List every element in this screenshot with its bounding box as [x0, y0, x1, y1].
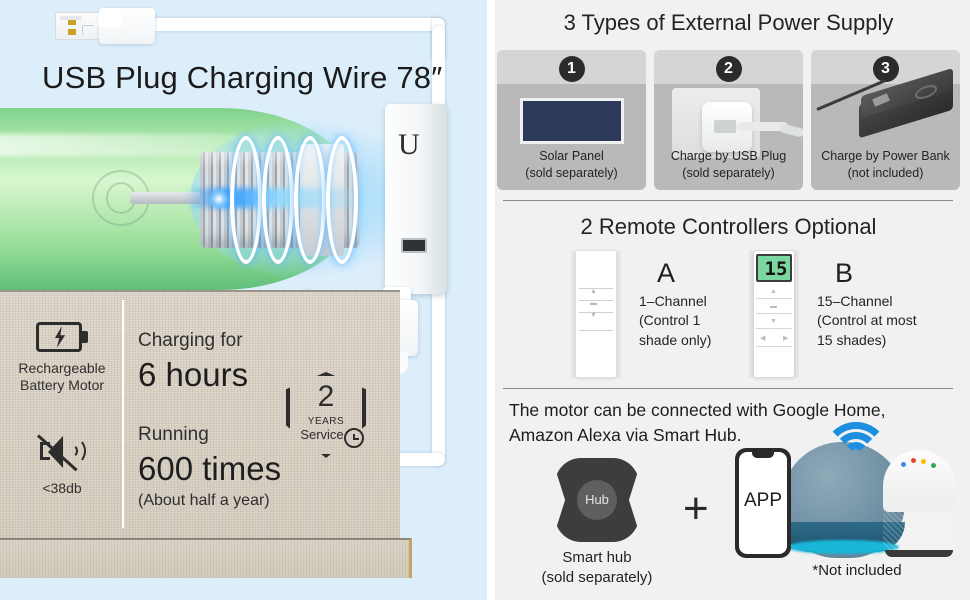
- google-home-led: [901, 462, 906, 467]
- remote-stop-glyph: ▬: [770, 303, 777, 310]
- remote-a-desc-line1: 1–Channel: [639, 293, 707, 309]
- smart-hub-badge: Hub: [577, 480, 617, 520]
- google-home-base: [883, 505, 955, 555]
- shade-bottom-hem: [0, 538, 412, 578]
- charging-label: Charging for: [138, 330, 243, 352]
- card-number-badge: 1: [559, 56, 585, 82]
- phone-app-label: APP: [739, 490, 787, 512]
- card-number-badge: 3: [873, 56, 899, 82]
- smart-hub-caption: Smart hub (sold separately): [517, 548, 677, 589]
- electric-spark-dot: [208, 188, 230, 210]
- not-included-footnote: *Not included: [757, 562, 957, 579]
- clock-icon: [344, 428, 364, 448]
- running-note: (About half a year): [138, 492, 270, 510]
- clock-hand-minute: [353, 438, 359, 440]
- left-panel: USB Plug Charging Wire 78″ U: [0, 0, 487, 600]
- battery-terminal: [82, 331, 88, 343]
- energy-coil: [230, 136, 262, 264]
- remote-a-side-shadow: [617, 250, 621, 378]
- right-panel: 3 Types of External Power Supply 1 Solar…: [487, 0, 970, 600]
- section-divider: [503, 388, 953, 389]
- battery-label-line2: Battery Motor: [20, 377, 104, 393]
- smart-hub-caption-line2: (sold separately): [542, 569, 653, 586]
- remote-b-desc-line2: (Control at most: [817, 312, 917, 328]
- usb-trident-mark: [82, 25, 94, 35]
- remote-up-glyph: ▲: [590, 288, 597, 295]
- battery-label-line1: Rechargeable: [18, 360, 105, 376]
- charger-usb-port: [714, 120, 736, 133]
- card-caption: Charge by USB Plug (sold separately): [654, 148, 803, 182]
- mute-speaker-icon: [40, 432, 86, 472]
- warranty-shield-badge: 2 YEARS Service: [286, 372, 366, 458]
- remote-lcd-value: 15: [758, 258, 794, 280]
- card-caption-line2: (sold separately): [525, 166, 617, 180]
- energy-coil: [294, 136, 326, 264]
- battery-label: Rechargeable Battery Motor: [6, 360, 118, 394]
- usb-body-emboss: [60, 16, 82, 20]
- usb-pin: [68, 29, 76, 35]
- remote-prev-channel-glyph: ◀: [760, 334, 765, 342]
- remote-button-divider: [756, 313, 792, 314]
- google-home-led: [931, 463, 936, 468]
- remote-next-channel-glyph: ▶: [783, 334, 788, 342]
- power-cards-row: 1 Solar Panel (sold separately) 2 Charge…: [495, 50, 962, 190]
- panel-separator: [487, 0, 495, 600]
- card-caption: Solar Panel (sold separately): [497, 148, 646, 182]
- card-caption-line1: Charge by Power Bank: [821, 149, 950, 163]
- wifi-arc: [843, 442, 869, 468]
- charger-cable-bend: [779, 123, 803, 138]
- noise-level-label: <38db: [26, 480, 98, 497]
- micro-usb-port-icon: [401, 238, 427, 253]
- smart-hub-description-line2: Amazon Alexa via Smart Hub.: [509, 425, 741, 445]
- page-title: USB Plug Charging Wire 78″: [42, 60, 442, 96]
- end-cap-seam: [434, 108, 436, 290]
- remote-a-desc-line3: shade only): [639, 332, 711, 348]
- motor-illustration: [0, 108, 420, 290]
- infographic-root: USB Plug Charging Wire 78″ U: [0, 0, 970, 600]
- remote-a-desc-line2: (Control 1: [639, 312, 700, 328]
- google-home-led: [911, 458, 916, 463]
- section-divider: [503, 200, 953, 201]
- rechargeable-battery-icon: [36, 322, 88, 352]
- running-label: Running: [138, 424, 209, 446]
- remote-stop-glyph: ▬: [590, 300, 597, 307]
- power-card-power-bank: 3 Charge by Power Bank (not included): [811, 50, 960, 190]
- smart-hub-caption-line1: Smart hub: [562, 549, 631, 566]
- remote-down-glyph: ▼: [590, 312, 597, 319]
- smart-hub-description-line1: The motor can be connected with Google H…: [509, 400, 885, 420]
- power-card-solar: 1 Solar Panel (sold separately): [497, 50, 646, 190]
- end-cap-letter: U: [398, 128, 420, 162]
- card-caption-line1: Charge by USB Plug: [671, 149, 786, 163]
- spec-divider: [122, 300, 124, 528]
- remote-a-description: 1–Channel (Control 1 shade only): [639, 292, 749, 350]
- card-number-badge: 2: [716, 56, 742, 82]
- card-caption-line2: (not included): [848, 166, 924, 180]
- remote-button-divider: [756, 328, 792, 329]
- usb-cable-neck: [98, 12, 122, 27]
- remote-section-title: 2 Remote Controllers Optional: [487, 214, 970, 240]
- charging-cable-top-segment: [150, 18, 445, 31]
- smart-hub-description: The motor can be connected with Google H…: [509, 398, 959, 449]
- energy-coil: [262, 136, 294, 264]
- phone-notch: [752, 452, 774, 458]
- remote-b-letter: B: [835, 258, 853, 289]
- remote-b-desc-line1: 15–Channel: [817, 293, 893, 309]
- card-caption-line1: Solar Panel: [539, 149, 604, 163]
- remote-down-glyph: ▼: [770, 318, 777, 325]
- remote-b-side-shadow: [795, 250, 799, 378]
- charging-value: 6 hours: [138, 356, 248, 394]
- remote-button-divider: [756, 298, 792, 299]
- remote-b-description: 15–Channel (Control at most 15 shades): [817, 292, 942, 350]
- warranty-years-number: 2: [286, 380, 366, 414]
- card-caption: Charge by Power Bank (not included): [811, 148, 960, 182]
- remote-button-divider: [756, 346, 792, 347]
- remote-button-divider: [579, 330, 613, 331]
- remote-a-letter: A: [657, 258, 675, 289]
- warranty-years-label: YEARS: [286, 416, 366, 427]
- remote-lcd-screen: 15: [756, 254, 792, 282]
- power-card-usb-plug: 2 Charge by USB Plug (sold separately): [654, 50, 803, 190]
- energy-coil: [326, 136, 358, 264]
- google-home-foot: [885, 550, 953, 557]
- plus-icon: +: [683, 487, 709, 531]
- google-home-led: [921, 459, 926, 464]
- power-section-title: 3 Types of External Power Supply: [487, 10, 970, 36]
- google-home-icon: [883, 450, 955, 512]
- card-caption-line2: (sold separately): [682, 166, 774, 180]
- remote-b-desc-line3: 15 shades): [817, 332, 886, 348]
- running-value: 600 times: [138, 450, 281, 488]
- remote-up-glyph: ▲: [770, 288, 777, 295]
- solar-panel-icon: [520, 98, 624, 144]
